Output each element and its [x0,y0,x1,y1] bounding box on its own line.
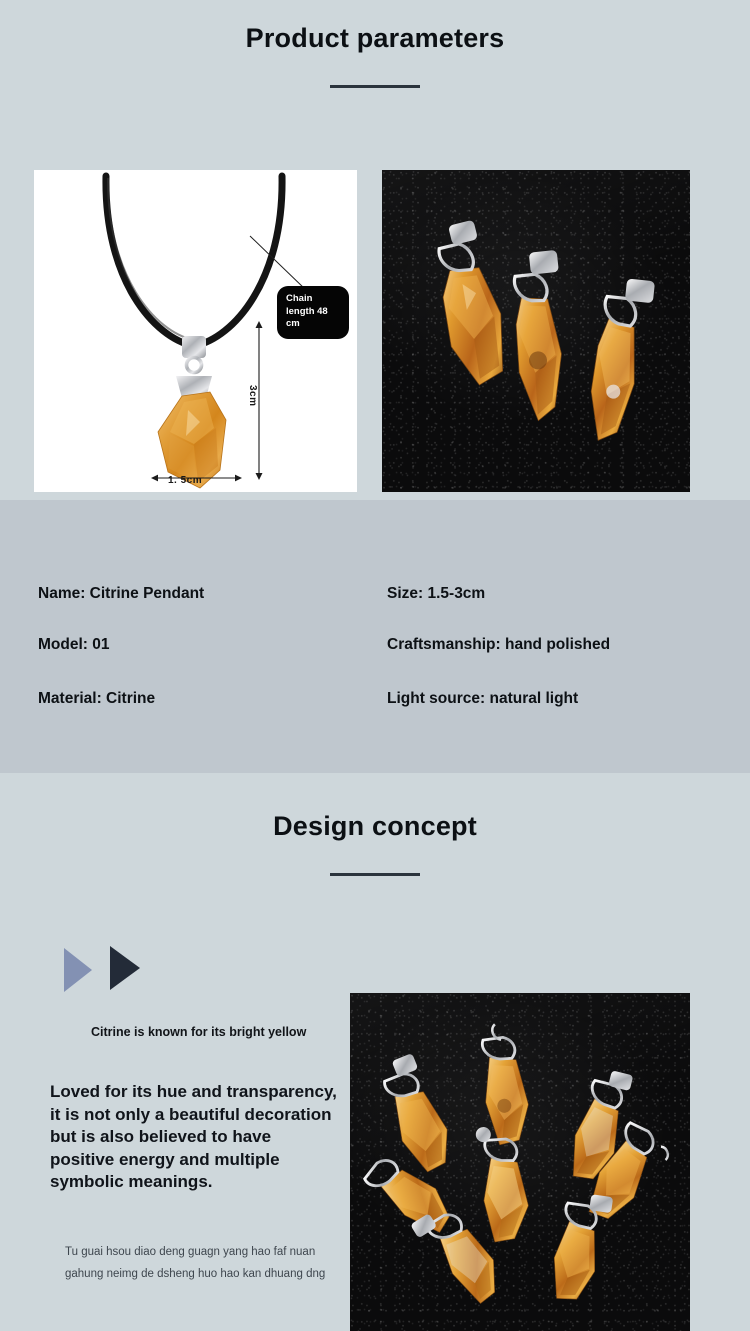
title-divider-product [330,85,420,88]
design-body-text: Loved for its hue and transparency, it i… [50,1081,340,1194]
spec-light-source: Light source: natural light [387,690,578,708]
dimension-label-height: 3cm [247,385,258,407]
spec-name: Name: Citrine Pendant [38,585,204,603]
spec-craftsmanship: Craftsmanship: hand polished [387,636,610,654]
eight-pendants-illustration [350,993,690,1331]
design-subtext: Tu guai hsou diao deng guagn yang hao fa… [65,1241,335,1286]
triangle-arrow-dark-icon [110,946,140,990]
product-photo-eight-pendants [350,993,690,1331]
page-title-product-parameters: Product parameters [0,23,750,54]
product-spec-band: Name: Citrine Pendant Model: 01 Material… [0,500,750,773]
page-title-design-concept: Design concept [0,811,750,842]
title-divider-design [330,873,420,876]
triangle-arrow-light-icon [64,948,92,992]
product-photo-three-pendants [382,170,690,492]
dimension-label-width: 1. 5cm [168,475,202,486]
three-pendants-illustration [382,170,690,492]
spec-model: Model: 01 [38,636,109,654]
spec-material: Material: Citrine [38,690,155,708]
spec-size: Size: 1.5-3cm [387,585,485,603]
chain-length-callout: Chain length 48 cm [277,286,349,339]
design-kicker-text: Citrine is known for its bright yellow [91,1025,306,1039]
